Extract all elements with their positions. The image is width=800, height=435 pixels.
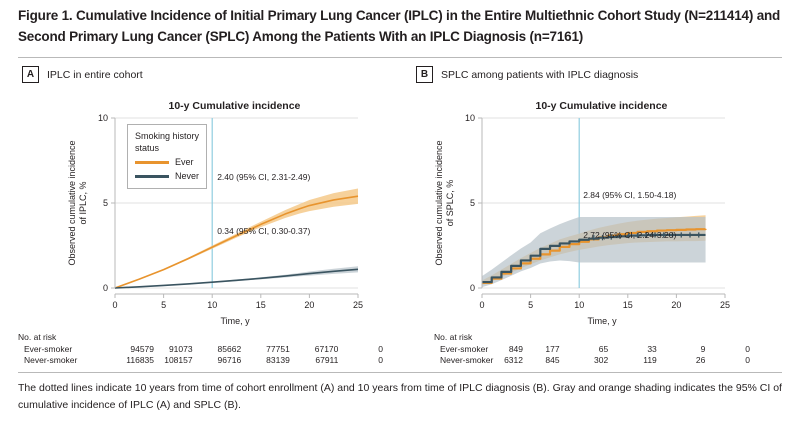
risk-table-row: Ever-smoker94579910738566277751671700 — [18, 344, 372, 355]
panel-a-plot-area: 05100510152025 — [18, 62, 372, 322]
risk-row-value: 0 — [341, 355, 383, 365]
y-tick-label: 5 — [103, 198, 108, 208]
risk-row-value: 108157 — [151, 355, 193, 365]
legend-label-ever: Ever — [175, 156, 194, 168]
header-divider — [18, 57, 782, 58]
figure-footnote: The dotted lines indicate 10 years from … — [18, 380, 782, 414]
panel-b: B SPLC among patients with IPLC diagnosi… — [412, 62, 784, 372]
legend-label-never: Never — [175, 170, 199, 182]
panel-b-annotation-never: 2.84 (95% CI, 1.50-4.18) — [583, 190, 676, 200]
risk-row-value: 77751 — [248, 344, 290, 354]
panel-a: A IPLC in entire cohort 10-y Cumulative … — [18, 62, 408, 372]
legend-swatch-ever — [135, 161, 169, 164]
risk-row-value: 85662 — [199, 344, 241, 354]
risk-row-value: 0 — [708, 355, 750, 365]
x-tick-label: 10 — [574, 300, 584, 310]
y-tick-label: 0 — [103, 283, 108, 293]
x-tick-label: 15 — [256, 300, 266, 310]
panel-b-annotation-ever: 2.72 (95% CI, 2.24-3.20) — [583, 230, 676, 240]
risk-row-value: 91073 — [151, 344, 193, 354]
risk-row-value: 96716 — [199, 355, 241, 365]
risk-row-value: 177 — [518, 344, 560, 354]
risk-row-value: 0 — [708, 344, 750, 354]
x-tick-label: 20 — [671, 300, 681, 310]
x-tick-label: 5 — [528, 300, 533, 310]
x-tick-label: 0 — [112, 300, 117, 310]
risk-row-value: 33 — [615, 344, 657, 354]
legend-title: Smoking historystatus — [135, 130, 199, 154]
risk-row-label: Ever-smoker — [24, 344, 72, 354]
risk-row-value: 9 — [663, 344, 705, 354]
panel-b-plot-area: 05100510152025 — [412, 62, 739, 322]
risk-row-value: 0 — [341, 344, 383, 354]
risk-table-row: Never-smoker1168351081579671683139679110 — [18, 355, 372, 366]
y-tick-label: 10 — [98, 113, 108, 123]
x-tick-label: 10 — [207, 300, 217, 310]
risk-row-value: 65 — [566, 344, 608, 354]
panel-a-annotation-never: 0.34 (95% CI, 0.30-0.37) — [217, 226, 310, 236]
risk-table-label: No. at risk — [18, 332, 56, 342]
panel-a-risk-table: No. at riskEver-smoker945799107385662777… — [18, 332, 372, 368]
footer-divider — [18, 372, 782, 373]
figure-title: Figure 1. Cumulative Incidence of Initia… — [18, 6, 788, 48]
x-tick-label: 15 — [623, 300, 633, 310]
legend-item-never: Never — [135, 170, 199, 182]
panel-a-annotation-ever: 2.40 (95% CI, 2.31-2.49) — [217, 172, 310, 182]
risk-row-value: 302 — [566, 355, 608, 365]
x-tick-label: 0 — [479, 300, 484, 310]
risk-table-row: Never-smoker6312845302119260 — [412, 355, 739, 366]
risk-row-value: 67911 — [296, 355, 338, 365]
y-tick-label: 0 — [470, 283, 475, 293]
risk-row-value: 94579 — [112, 344, 154, 354]
x-tick-label: 25 — [353, 300, 363, 310]
panel-b-risk-table: No. at riskEver-smoker849177653390Never-… — [412, 332, 739, 368]
risk-row-value: 845 — [518, 355, 560, 365]
y-tick-label: 10 — [465, 113, 475, 123]
x-tick-label: 5 — [161, 300, 166, 310]
risk-row-value: 119 — [615, 355, 657, 365]
risk-row-value: 67170 — [296, 344, 338, 354]
legend-item-ever: Ever — [135, 156, 199, 168]
risk-row-value: 26 — [663, 355, 705, 365]
legend: Smoking historystatus Ever Never — [127, 124, 207, 189]
risk-table-label: No. at risk — [434, 332, 472, 342]
x-tick-label: 25 — [720, 300, 730, 310]
y-tick-label: 5 — [470, 198, 475, 208]
legend-swatch-never — [135, 175, 169, 178]
x-tick-label: 20 — [304, 300, 314, 310]
risk-row-value: 116835 — [112, 355, 154, 365]
risk-row-label: Never-smoker — [24, 355, 77, 365]
risk-row-value: 83139 — [248, 355, 290, 365]
risk-table-row: Ever-smoker849177653390 — [412, 344, 739, 355]
